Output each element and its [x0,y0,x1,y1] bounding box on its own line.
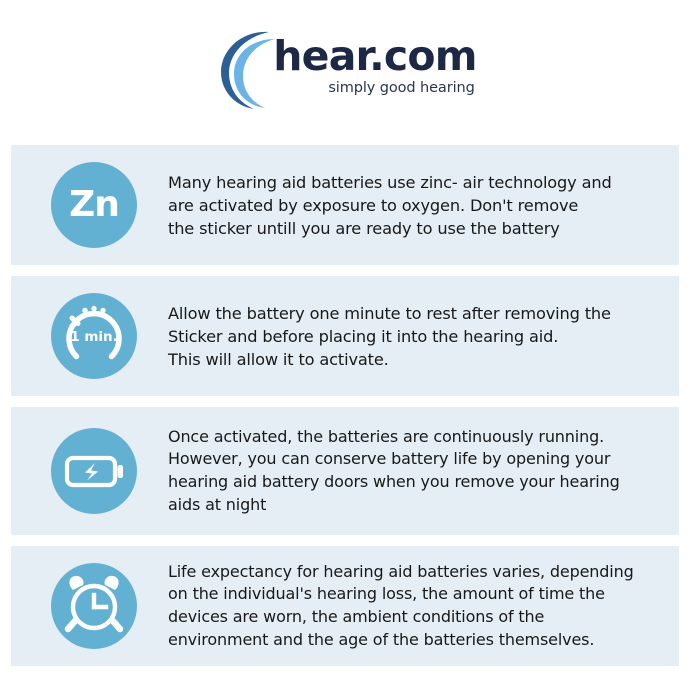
alarm-clock-icon [51,563,137,649]
tip-panel: Life expectancy for hearing aid batterie… [11,546,679,666]
hear-com-logo[interactable]: hear.com simply good hearing [213,24,476,110]
logo-tagline: simply good hearing [328,80,474,96]
tip-panel-text: Once activated, the batteries are contin… [168,426,620,517]
logo-text-block: hear.com simply good hearing [273,24,476,97]
zinc-symbol-label: Zn [69,187,119,223]
logo-wordmark: hear.com [273,37,476,76]
tip-panel: Once activated, the batteries are contin… [11,407,679,535]
one-minute-timer-label: 1 min. [70,329,118,345]
tip-panel-text: Many hearing aid batteries use zinc- air… [168,171,612,240]
tip-panel-text: Life expectancy for hearing aid batterie… [168,561,634,652]
tip-panel-text: Allow the battery one minute to rest aft… [168,302,611,371]
infographic-root: hear.com simply good hearing Zn Many hea… [0,0,690,700]
one-minute-timer-icon: 1 min. [51,293,137,379]
tip-panel-list: Zn Many hearing aid batteries use zinc- … [11,145,679,677]
tip-panel: Zn Many hearing aid batteries use zinc- … [11,145,679,265]
brand-header: hear.com simply good hearing [0,0,690,133]
battery-charge-icon [51,428,137,514]
zinc-symbol-icon: Zn [51,162,137,248]
tip-panel: 1 min. Allow the battery one minute to r… [11,276,679,396]
